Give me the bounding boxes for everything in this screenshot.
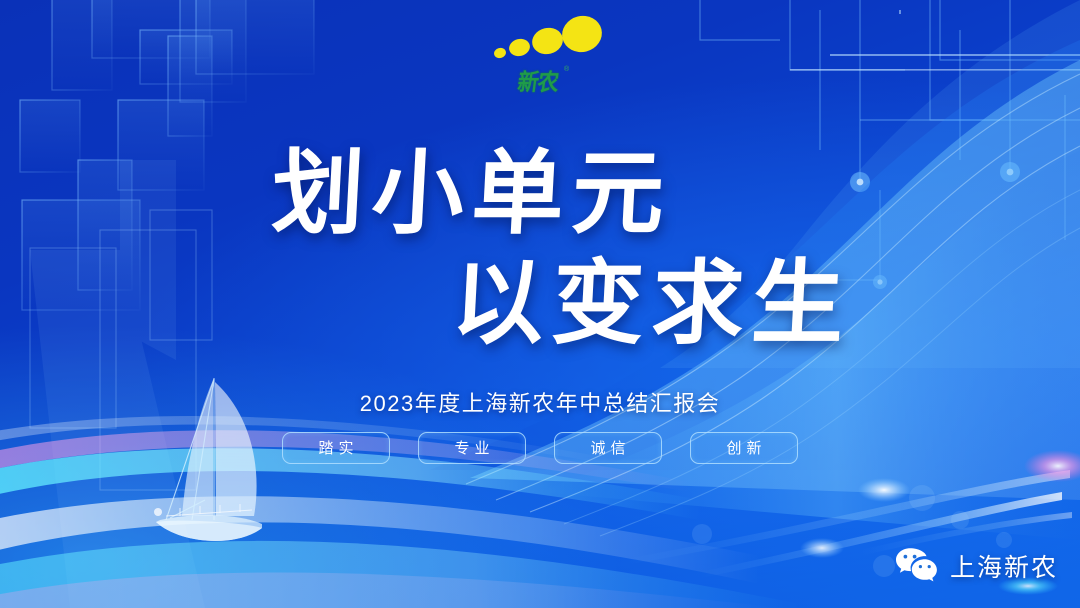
wechat-account-name: 上海新农 — [950, 548, 1058, 584]
wechat-footer: 上海新农 — [894, 546, 1058, 586]
logo-trademark: ® — [564, 66, 569, 73]
value-pill-4: 创新 — [690, 432, 798, 464]
value-pill-2: 专业 — [418, 432, 526, 464]
logo-dot-4 — [558, 12, 606, 57]
logo-dot-3 — [529, 25, 565, 58]
wechat-icon — [894, 546, 940, 586]
event-subtitle: 2023年度上海新农年中总结汇报会 — [0, 386, 1080, 418]
logo-dot-2 — [507, 37, 531, 59]
shanghai-xinnong-logo: 新农 ® — [492, 14, 602, 98]
poster-canvas: 新农 ® 划小单元 以变求生 2023年度上海新农年中总结汇报会 踏实 专业 诚… — [0, 0, 1080, 608]
value-pill-3: 诚信 — [554, 432, 662, 464]
logo-dots — [492, 14, 602, 66]
value-pill-1: 踏实 — [282, 432, 390, 464]
headline-line-2: 以变求生 — [450, 258, 855, 350]
logo-dot-1 — [493, 47, 507, 60]
headline-line-1: 划小单元 — [270, 148, 675, 240]
logo-wordmark: 新农 — [516, 65, 561, 98]
core-values: 踏实 专业 诚信 创新 — [0, 432, 1080, 464]
